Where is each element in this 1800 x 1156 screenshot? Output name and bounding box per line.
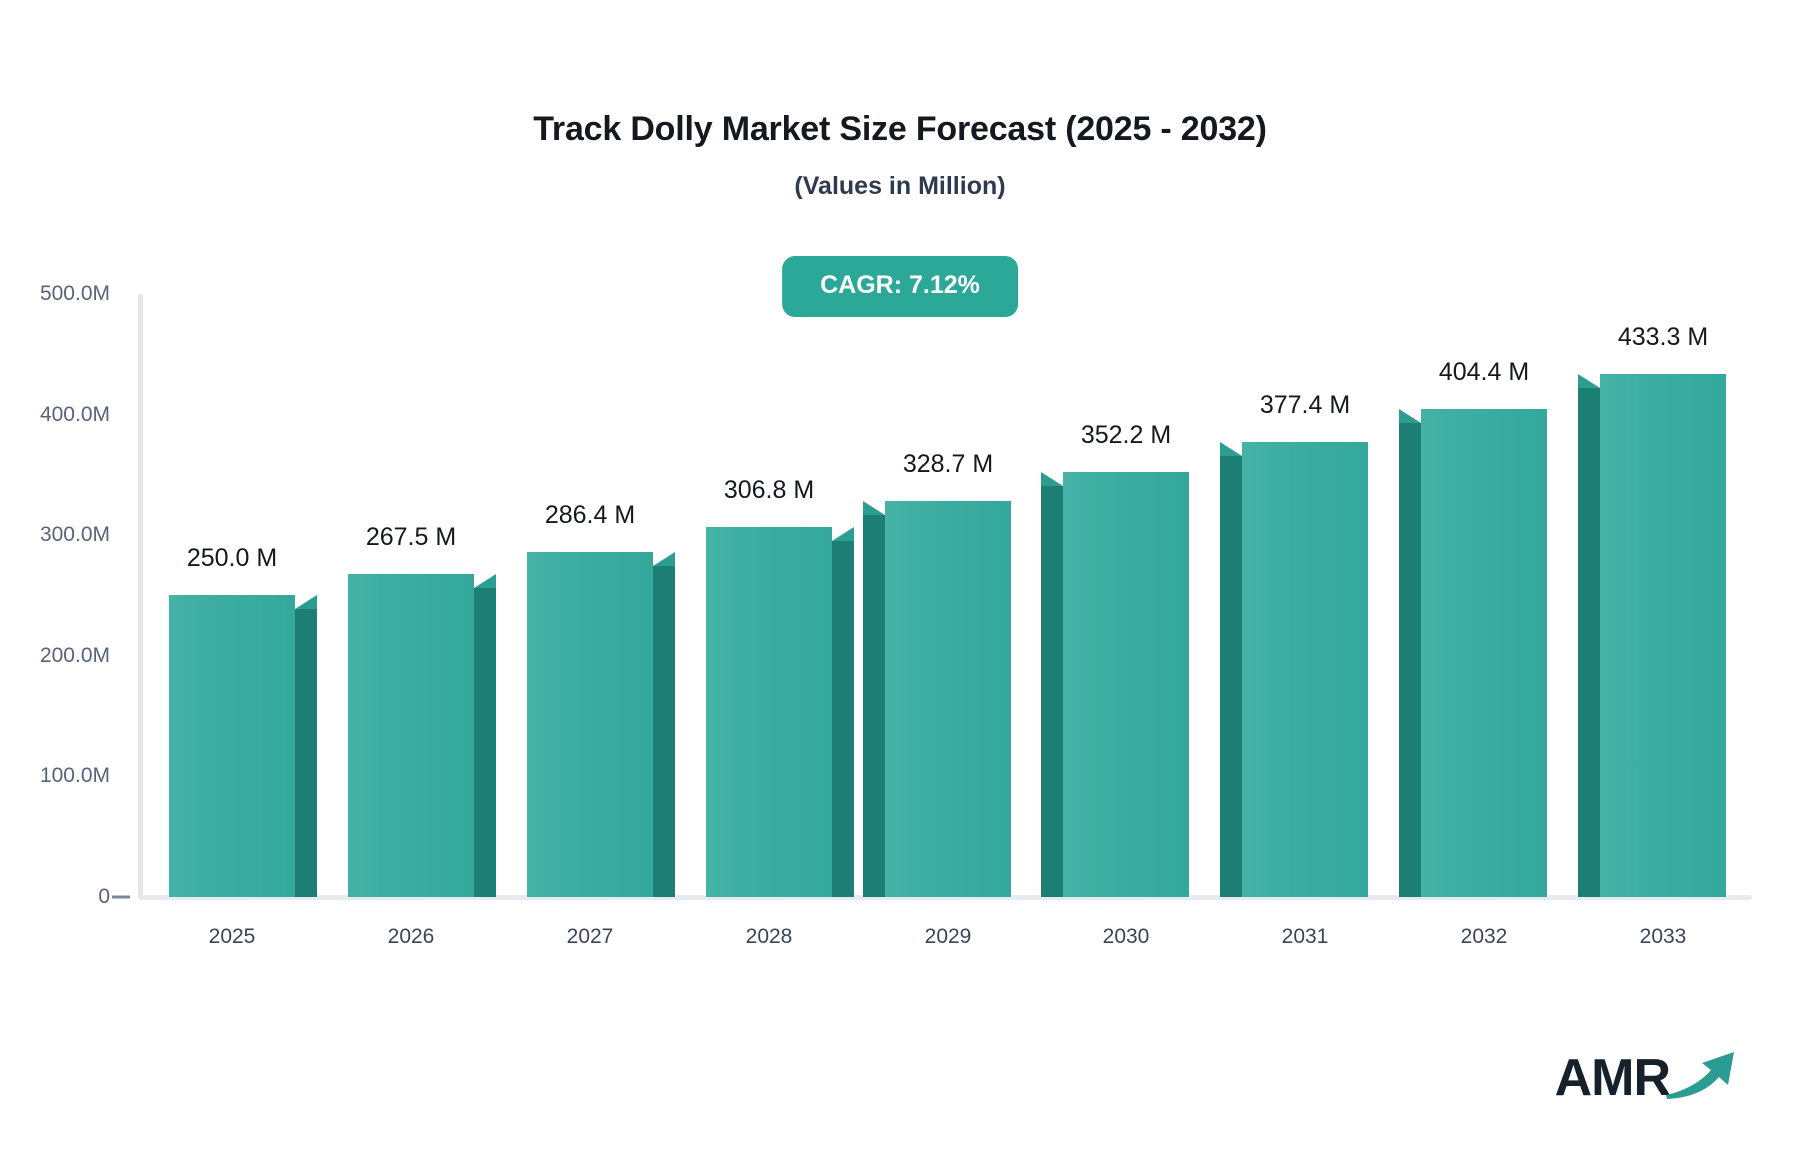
bar-top-cap [1220,442,1242,456]
bar-value-label: 328.7 M [903,450,993,479]
bar-side-face [474,588,496,897]
bar-group[interactable]: 250.0 M [169,0,295,1156]
bar-side-face [863,515,885,897]
x-axis-label-2030: 2030 [1103,925,1150,949]
x-axis-label-2032: 2032 [1461,925,1508,949]
bar-group[interactable]: 286.4 M [527,0,653,1156]
growth-arrow-icon [1664,1043,1742,1108]
bar-top-cap [474,574,496,588]
bar-value-label: 267.5 M [366,523,456,552]
bar-side-face [653,566,675,897]
x-axis-label-2028: 2028 [746,925,793,949]
x-axis-label-2027: 2027 [567,925,614,949]
bar-2025[interactable] [169,595,295,897]
bar-top-cap [653,552,675,566]
x-axis-label-2026: 2026 [388,925,435,949]
bar-front-face [1063,472,1189,897]
bar-group[interactable]: 306.8 M [706,0,832,1156]
bar-top-cap [1399,409,1421,423]
bar-front-face [1242,442,1368,897]
bar-value-label: 404.4 M [1439,358,1529,387]
bar-top-cap [863,501,885,515]
bar-side-face [1578,388,1600,897]
bar-side-face [1399,423,1421,897]
bar-front-face [1421,409,1547,897]
bar-top-cap [1578,374,1600,388]
amr-logo: AMR [1555,1043,1742,1112]
bar-2031[interactable] [1242,442,1368,897]
bar-group[interactable]: 267.5 M [348,0,474,1156]
bar-value-label: 306.8 M [724,476,814,505]
bar-2032[interactable] [1421,409,1547,897]
bar-side-face [1220,456,1242,897]
bar-value-label: 352.2 M [1081,421,1171,450]
bar-group[interactable]: 404.4 M [1421,0,1547,1156]
bar-side-face [832,541,854,897]
x-axis-label-2029: 2029 [925,925,972,949]
plot-area: 0100.0M200.0M300.0M400.0M500.0M 250.0 M2… [0,0,1800,1156]
bar-value-label: 250.0 M [187,544,277,573]
bar-front-face [527,552,653,897]
bar-2028[interactable] [706,527,832,897]
bar-2030[interactable] [1063,472,1189,897]
bar-group[interactable]: 352.2 M [1063,0,1189,1156]
bar-2026[interactable] [348,574,474,897]
bar-value-label: 433.3 M [1618,323,1708,352]
x-axis-label-2031: 2031 [1282,925,1329,949]
bar-group[interactable]: 328.7 M [885,0,1011,1156]
x-axis-label-2033: 2033 [1640,925,1687,949]
bar-top-cap [832,527,854,541]
bar-2033[interactable] [1600,374,1726,897]
bar-2027[interactable] [527,552,653,897]
bar-front-face [885,501,1011,897]
bar-side-face [295,609,317,897]
bar-value-label: 377.4 M [1260,391,1350,420]
bar-2029[interactable] [885,501,1011,897]
bar-front-face [348,574,474,897]
bar-front-face [1600,374,1726,897]
bar-value-label: 286.4 M [545,501,635,530]
bar-front-face [169,595,295,897]
bar-group[interactable]: 433.3 M [1600,0,1726,1156]
bar-side-face [1041,486,1063,897]
bar-group[interactable]: 377.4 M [1242,0,1368,1156]
bar-top-cap [295,595,317,609]
bar-front-face [706,527,832,897]
bars-layer: 250.0 M267.5 M286.4 M306.8 M328.7 M352.2… [0,0,1800,1156]
logo-text: AMR [1555,1052,1670,1104]
bar-top-cap [1041,472,1063,486]
x-axis-label-2025: 2025 [209,925,256,949]
chart-page: Track Dolly Market Size Forecast (2025 -… [0,0,1800,1156]
